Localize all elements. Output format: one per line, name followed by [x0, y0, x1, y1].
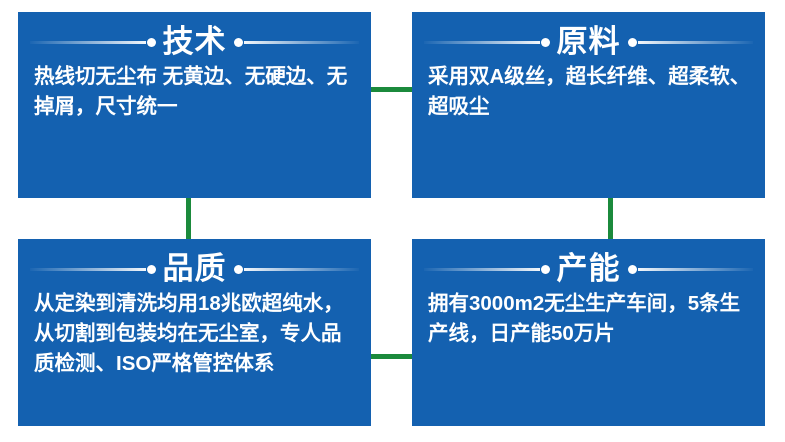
- card-technology-body: 热线切无尘布 无黄边、无硬边、无掉屑，尺寸统一: [18, 62, 371, 122]
- card-technology-title: 技术: [156, 25, 234, 59]
- card-technology-title-row: 技术: [18, 23, 371, 61]
- card-technology: 技术 热线切无尘布 无黄边、无硬边、无掉屑，尺寸统一: [18, 12, 371, 198]
- title-decoration-right-icon: [628, 36, 754, 48]
- title-decoration-right-icon: [234, 263, 360, 275]
- card-capacity-body: 拥有3000m2无尘生产车间，5条生产线，日产能50万片: [412, 289, 765, 349]
- card-capacity-title: 产能: [550, 252, 628, 286]
- card-capacity: 产能 拥有3000m2无尘生产车间，5条生产线，日产能50万片: [412, 239, 765, 426]
- feature-grid: 技术 热线切无尘布 无黄边、无硬边、无掉屑，尺寸统一 原料 采用双A级丝，超长纤…: [0, 0, 785, 442]
- card-quality-title-row: 品质: [18, 250, 371, 288]
- title-decoration-left-icon: [424, 36, 550, 48]
- card-quality-title: 品质: [156, 252, 234, 286]
- card-raw-material-title-row: 原料: [412, 23, 765, 61]
- title-decoration-left-icon: [424, 263, 550, 275]
- card-quality: 品质 从定染到清洗均用18兆欧超纯水，从切割到包装均在无尘室，专人品质检测、IS…: [18, 239, 371, 426]
- card-capacity-title-row: 产能: [412, 250, 765, 288]
- title-decoration-left-icon: [30, 36, 156, 48]
- connector-horizontal-bottom: [370, 354, 413, 359]
- title-decoration-left-icon: [30, 263, 156, 275]
- card-raw-material-body: 采用双A级丝，超长纤维、超柔软、超吸尘: [412, 62, 765, 122]
- card-raw-material-title: 原料: [550, 25, 628, 59]
- title-decoration-right-icon: [628, 263, 754, 275]
- connector-vertical-left: [186, 197, 191, 240]
- connector-vertical-right: [608, 197, 613, 240]
- title-decoration-right-icon: [234, 36, 360, 48]
- connector-horizontal-top: [370, 87, 413, 92]
- card-quality-body: 从定染到清洗均用18兆欧超纯水，从切割到包装均在无尘室，专人品质检测、ISO严格…: [18, 289, 371, 379]
- card-raw-material: 原料 采用双A级丝，超长纤维、超柔软、超吸尘: [412, 12, 765, 198]
